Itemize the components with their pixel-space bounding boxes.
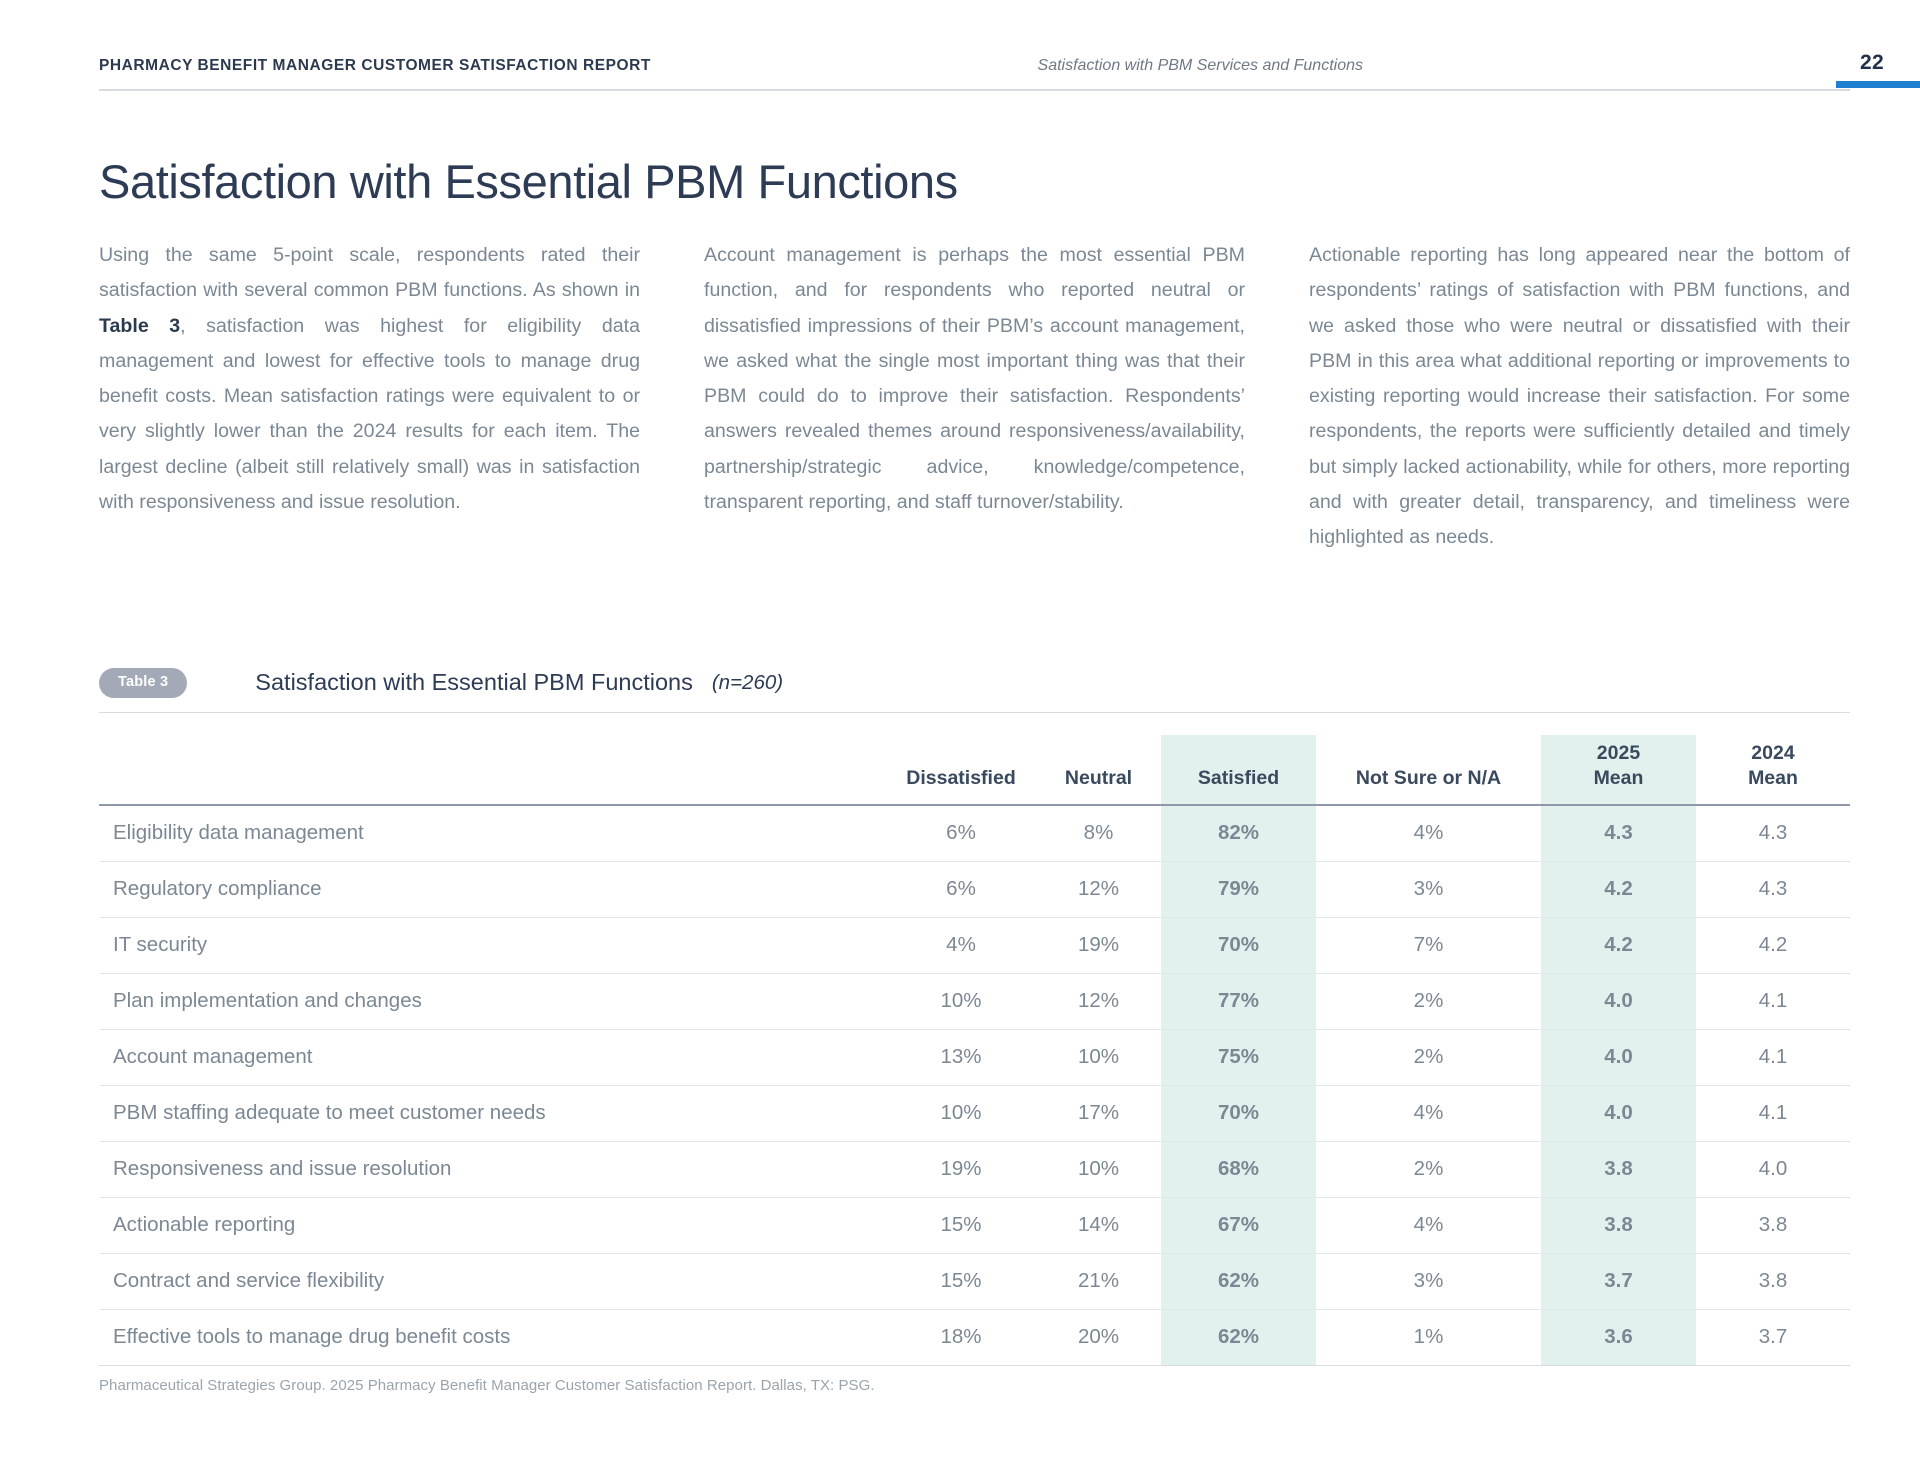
row-label: Plan implementation and changes xyxy=(99,974,886,1030)
cell-satisfied: 68% xyxy=(1161,1142,1316,1198)
table-caption-title: Satisfaction with Essential PBM Function… xyxy=(255,669,693,696)
cell-mean-2025: 4.2 xyxy=(1541,918,1696,974)
column-header-satisfied: Satisfied xyxy=(1161,735,1316,805)
table-row: Regulatory compliance 6% 12% 79% 3% 4.2 … xyxy=(99,862,1850,918)
table-caption: Table 3 Satisfaction with Essential PBM … xyxy=(99,668,1850,698)
cell-satisfied: 70% xyxy=(1161,918,1316,974)
cell-satisfied: 79% xyxy=(1161,862,1316,918)
table-row: Plan implementation and changes 10% 12% … xyxy=(99,974,1850,1030)
row-label: Eligibility data management xyxy=(99,805,886,862)
cell-mean-2025: 4.0 xyxy=(1541,974,1696,1030)
cell-mean-2025: 3.8 xyxy=(1541,1198,1696,1254)
table-header-row: Dissatisfied Neutral Satisfied Not Sure … xyxy=(99,735,1850,805)
cell-neutral: 10% xyxy=(1036,1142,1161,1198)
row-label: IT security xyxy=(99,918,886,974)
row-label: PBM staffing adequate to meet customer n… xyxy=(99,1086,886,1142)
cell-not-sure: 4% xyxy=(1316,1198,1541,1254)
page-number-accent-bar xyxy=(1836,81,1920,88)
cell-dissatisfied: 6% xyxy=(886,862,1036,918)
row-label: Effective tools to manage drug benefit c… xyxy=(99,1310,886,1366)
row-label: Account management xyxy=(99,1030,886,1086)
table-sample-size: (n=260) xyxy=(712,671,783,695)
satisfaction-table: Dissatisfied Neutral Satisfied Not Sure … xyxy=(99,735,1850,1366)
cell-mean-2024: 4.2 xyxy=(1696,918,1850,974)
body-column-1-text-a: Using the same 5-point scale, respondent… xyxy=(99,244,640,301)
cell-mean-2024: 4.1 xyxy=(1696,974,1850,1030)
table-row: PBM staffing adequate to meet customer n… xyxy=(99,1086,1850,1142)
body-column-3: Actionable reporting has long appeared n… xyxy=(1309,238,1850,556)
mean-2025-year: 2025 xyxy=(1597,742,1640,764)
page-title: Satisfaction with Essential PBM Function… xyxy=(99,158,958,205)
cell-dissatisfied: 15% xyxy=(886,1254,1036,1310)
cell-mean-2024: 4.0 xyxy=(1696,1142,1850,1198)
cell-mean-2024: 3.8 xyxy=(1696,1198,1850,1254)
table-row: Responsiveness and issue resolution 19% … xyxy=(99,1142,1850,1198)
cell-satisfied: 62% xyxy=(1161,1310,1316,1366)
body-column-1-text-b: , satisfaction was highest for eligibili… xyxy=(99,315,640,513)
cell-satisfied: 67% xyxy=(1161,1198,1316,1254)
cell-dissatisfied: 10% xyxy=(886,1086,1036,1142)
cell-dissatisfied: 18% xyxy=(886,1310,1036,1366)
table-row: Effective tools to manage drug benefit c… xyxy=(99,1310,1850,1366)
cell-not-sure: 3% xyxy=(1316,1254,1541,1310)
table-row: Actionable reporting 15% 14% 67% 4% 3.8 … xyxy=(99,1198,1850,1254)
table-row: Contract and service flexibility 15% 21%… xyxy=(99,1254,1850,1310)
mean-2025-word: Mean xyxy=(1594,767,1644,789)
row-label: Contract and service flexibility xyxy=(99,1254,886,1310)
cell-dissatisfied: 6% xyxy=(886,805,1036,862)
source-note: Pharmaceutical Strategies Group. 2025 Ph… xyxy=(99,1377,875,1394)
running-head-right: Satisfaction with PBM Services and Funct… xyxy=(943,57,1363,75)
cell-neutral: 19% xyxy=(1036,918,1161,974)
cell-neutral: 20% xyxy=(1036,1310,1161,1366)
table-row: IT security 4% 19% 70% 7% 4.2 4.2 xyxy=(99,918,1850,974)
cell-neutral: 12% xyxy=(1036,974,1161,1030)
cell-mean-2024: 3.8 xyxy=(1696,1254,1850,1310)
column-header-neutral: Neutral xyxy=(1036,735,1161,805)
cell-neutral: 10% xyxy=(1036,1030,1161,1086)
body-column-2: Account management is perhaps the most e… xyxy=(704,238,1245,556)
column-header-mean-2024: 2024Mean xyxy=(1696,735,1850,805)
cell-dissatisfied: 19% xyxy=(886,1142,1036,1198)
document-page: PHARMACY BENEFIT MANAGER CUSTOMER SATISF… xyxy=(0,0,1920,1483)
table-number-badge: Table 3 xyxy=(99,668,187,698)
cell-not-sure: 4% xyxy=(1316,805,1541,862)
cell-dissatisfied: 15% xyxy=(886,1198,1036,1254)
row-label: Actionable reporting xyxy=(99,1198,886,1254)
data-table-container: Dissatisfied Neutral Satisfied Not Sure … xyxy=(99,735,1850,1366)
mean-2024-year: 2024 xyxy=(1751,742,1794,764)
cell-neutral: 21% xyxy=(1036,1254,1161,1310)
cell-not-sure: 3% xyxy=(1316,862,1541,918)
table-body: Eligibility data management 6% 8% 82% 4%… xyxy=(99,805,1850,1366)
cell-dissatisfied: 13% xyxy=(886,1030,1036,1086)
row-label: Responsiveness and issue resolution xyxy=(99,1142,886,1198)
cell-not-sure: 2% xyxy=(1316,1142,1541,1198)
cell-neutral: 8% xyxy=(1036,805,1161,862)
cell-satisfied: 70% xyxy=(1161,1086,1316,1142)
table-reference: Table 3 xyxy=(99,315,180,337)
cell-not-sure: 7% xyxy=(1316,918,1541,974)
column-header-dissatisfied: Dissatisfied xyxy=(886,735,1036,805)
cell-mean-2025: 4.2 xyxy=(1541,862,1696,918)
body-column-1: Using the same 5-point scale, respondent… xyxy=(99,238,640,556)
table-header: Dissatisfied Neutral Satisfied Not Sure … xyxy=(99,735,1850,805)
header-divider xyxy=(99,89,1850,91)
cell-not-sure: 1% xyxy=(1316,1310,1541,1366)
cell-mean-2024: 4.3 xyxy=(1696,862,1850,918)
running-head-left: PHARMACY BENEFIT MANAGER CUSTOMER SATISF… xyxy=(99,57,651,75)
cell-mean-2025: 3.7 xyxy=(1541,1254,1696,1310)
cell-mean-2024: 4.1 xyxy=(1696,1030,1850,1086)
cell-not-sure: 2% xyxy=(1316,974,1541,1030)
table-row: Account management 13% 10% 75% 2% 4.0 4.… xyxy=(99,1030,1850,1086)
cell-satisfied: 77% xyxy=(1161,974,1316,1030)
cell-dissatisfied: 10% xyxy=(886,974,1036,1030)
body-columns: Using the same 5-point scale, respondent… xyxy=(99,238,1850,556)
cell-satisfied: 75% xyxy=(1161,1030,1316,1086)
cell-neutral: 17% xyxy=(1036,1086,1161,1142)
cell-dissatisfied: 4% xyxy=(886,918,1036,974)
cell-mean-2024: 3.7 xyxy=(1696,1310,1850,1366)
column-header-mean-2025: 2025Mean xyxy=(1541,735,1696,805)
mean-2024-word: Mean xyxy=(1748,767,1798,789)
cell-mean-2025: 4.0 xyxy=(1541,1086,1696,1142)
cell-satisfied: 62% xyxy=(1161,1254,1316,1310)
running-header: PHARMACY BENEFIT MANAGER CUSTOMER SATISF… xyxy=(0,0,1920,92)
table-row: Eligibility data management 6% 8% 82% 4%… xyxy=(99,805,1850,862)
cell-mean-2025: 3.8 xyxy=(1541,1142,1696,1198)
cell-mean-2025: 3.6 xyxy=(1541,1310,1696,1366)
caption-divider xyxy=(99,712,1850,713)
cell-neutral: 12% xyxy=(1036,862,1161,918)
cell-mean-2024: 4.1 xyxy=(1696,1086,1850,1142)
cell-mean-2025: 4.0 xyxy=(1541,1030,1696,1086)
cell-mean-2024: 4.3 xyxy=(1696,805,1850,862)
column-header-not-sure: Not Sure or N/A xyxy=(1316,735,1541,805)
column-header-label xyxy=(99,735,886,805)
cell-mean-2025: 4.3 xyxy=(1541,805,1696,862)
row-label: Regulatory compliance xyxy=(99,862,886,918)
cell-not-sure: 2% xyxy=(1316,1030,1541,1086)
cell-satisfied: 82% xyxy=(1161,805,1316,862)
cell-not-sure: 4% xyxy=(1316,1086,1541,1142)
cell-neutral: 14% xyxy=(1036,1198,1161,1254)
page-number: 22 xyxy=(1860,51,1884,75)
